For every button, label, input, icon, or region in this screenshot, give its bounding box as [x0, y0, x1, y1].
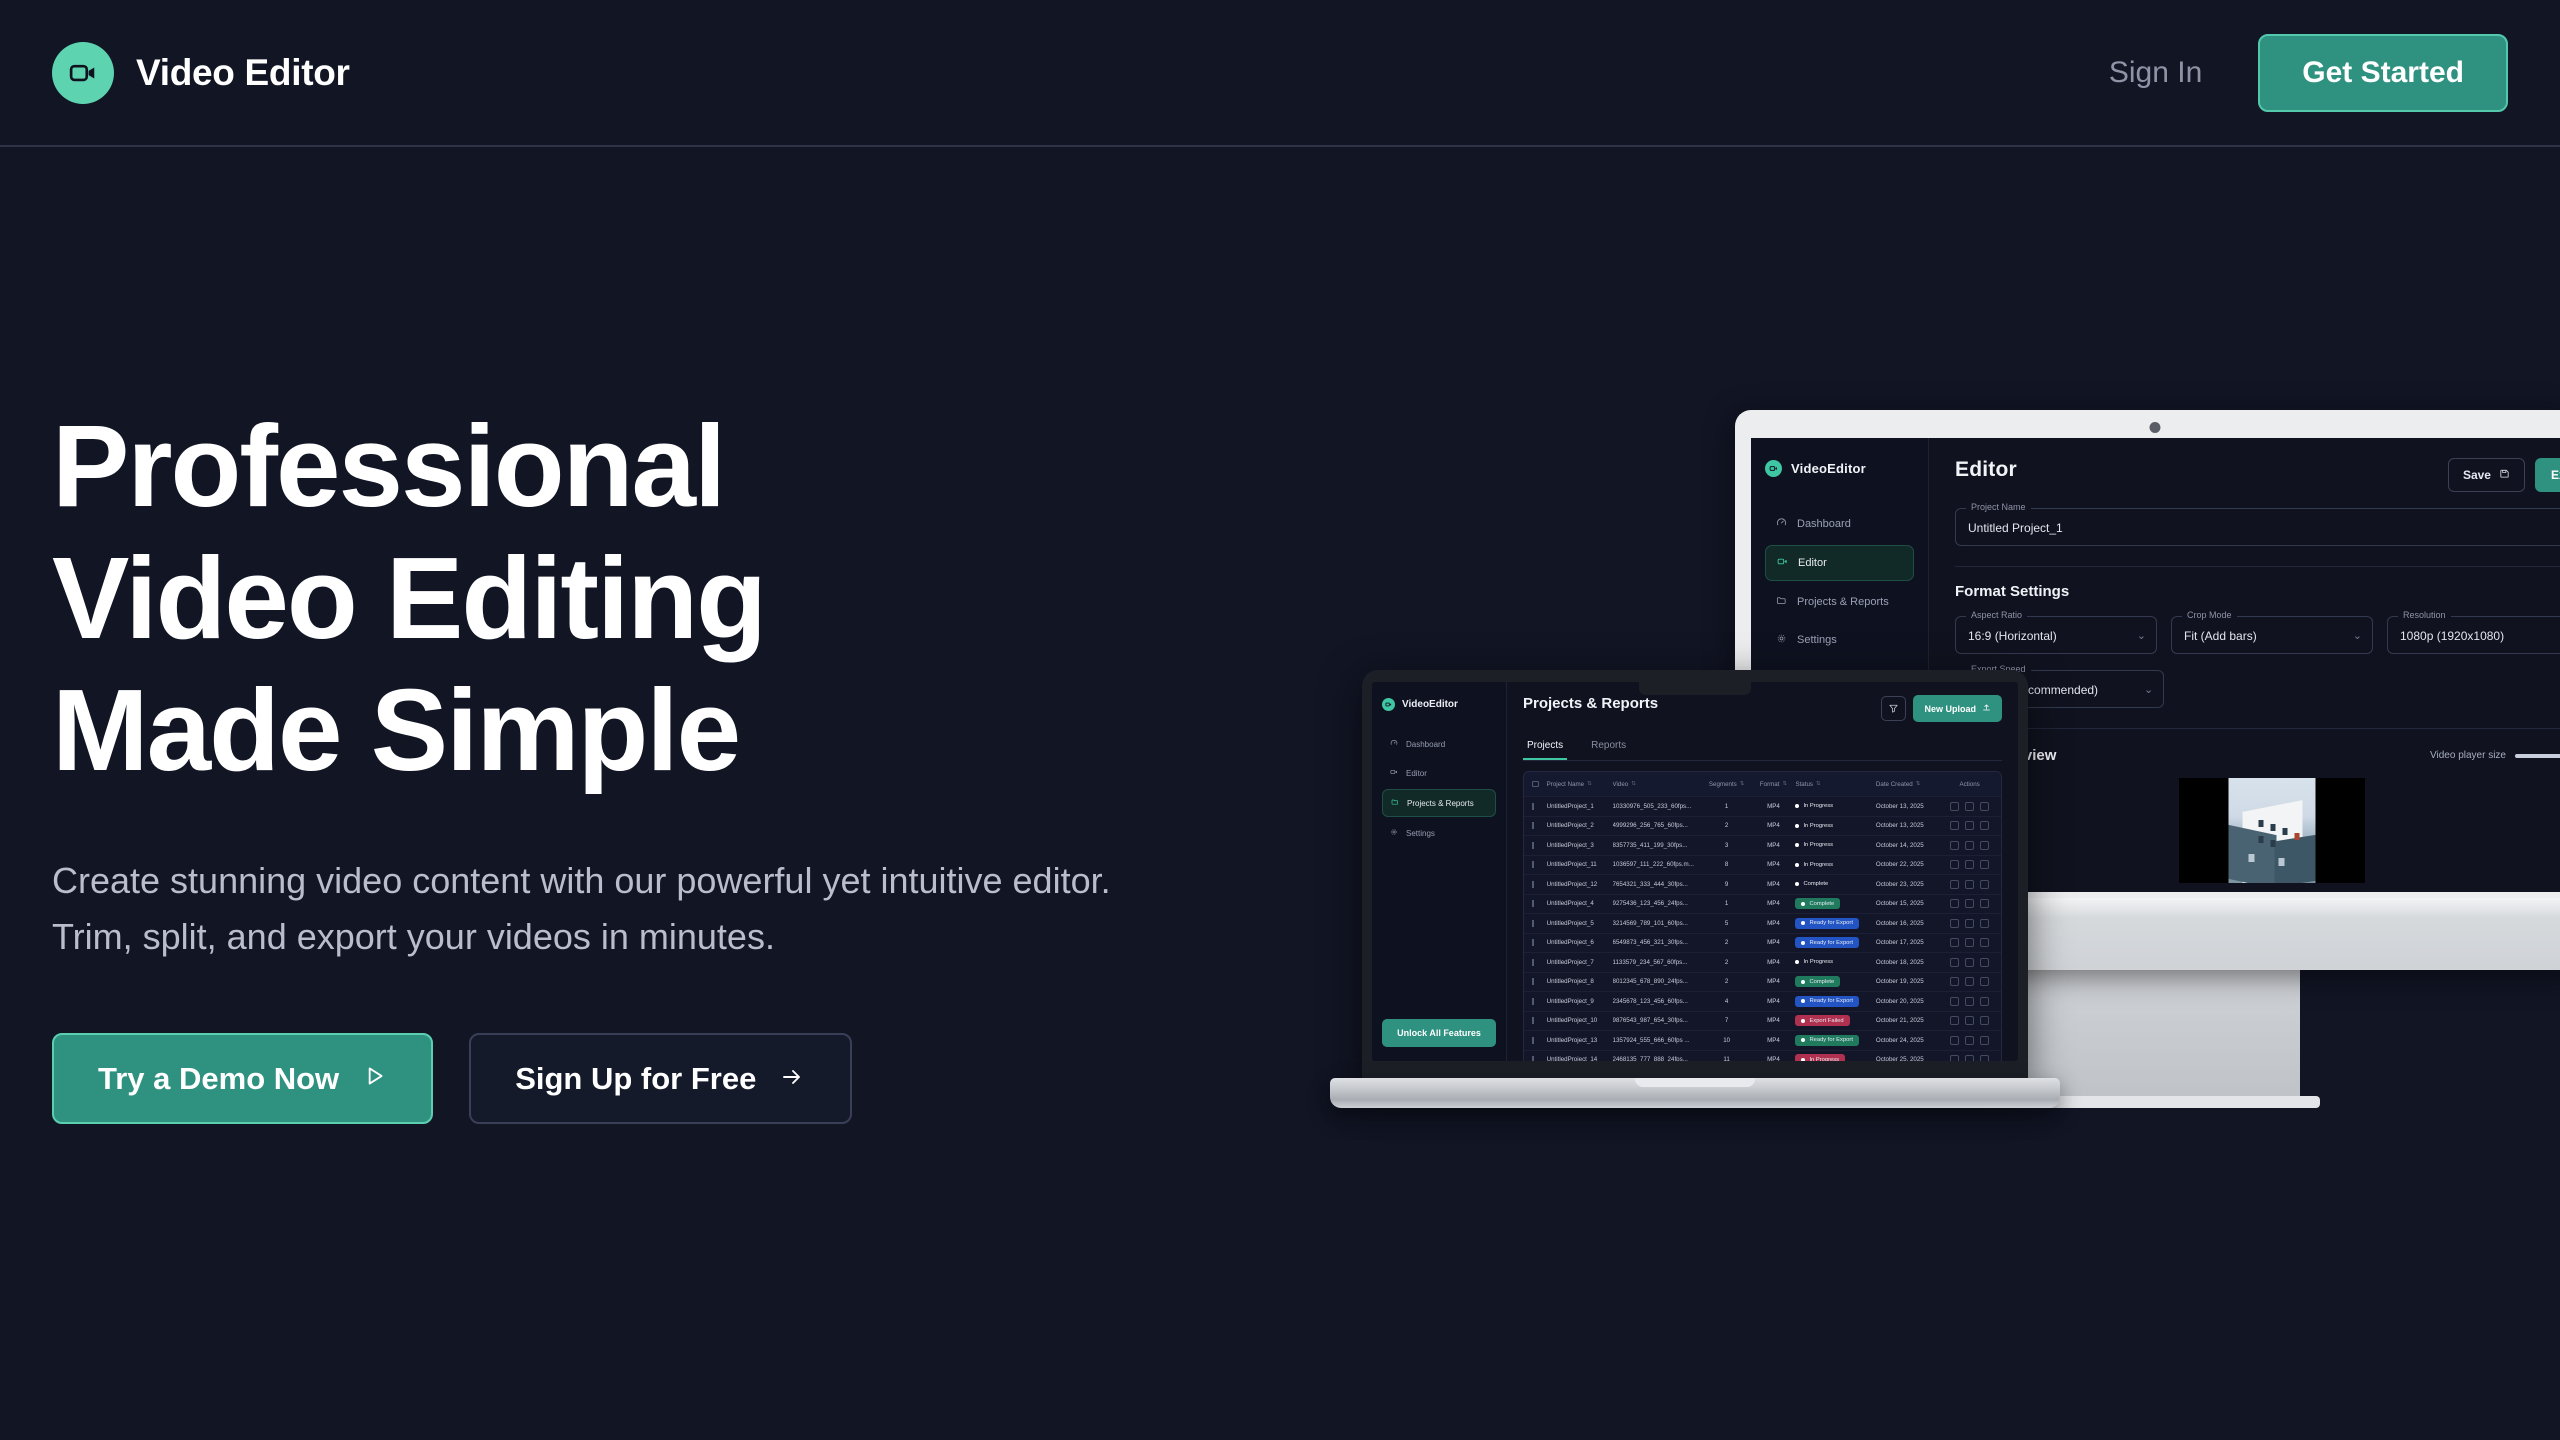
status-badge: In Progress	[1795, 859, 1839, 870]
cell-segments: 4	[1702, 998, 1752, 1005]
col-segments[interactable]: Segments⇅	[1702, 781, 1752, 788]
cell-status: In Progress	[1795, 1054, 1875, 1061]
edit-icon[interactable]	[1950, 938, 1959, 947]
delete-icon[interactable]	[1980, 821, 1989, 830]
row-checkbox[interactable]	[1532, 920, 1547, 927]
video-player-preview[interactable]	[2179, 778, 2365, 883]
cell-segments: 2	[1702, 822, 1752, 829]
hero-heading-line-2: Video Editing	[52, 533, 765, 663]
cell-segments: 1	[1702, 803, 1752, 810]
try-demo-button[interactable]: Try a Demo Now	[52, 1033, 433, 1124]
status-badge: In Progress	[1795, 801, 1839, 812]
editor-page-title: Editor	[1955, 458, 2017, 482]
table-row[interactable]: UntitledProject_142468135_777_888_24fps.…	[1524, 1051, 2001, 1062]
projects-page-title: Projects & Reports	[1523, 695, 1658, 712]
delete-icon[interactable]	[1980, 802, 1989, 811]
col-status[interactable]: Status⇅	[1795, 781, 1875, 788]
cell-segments: 9	[1702, 881, 1752, 888]
status-dot	[1795, 863, 1799, 867]
sidebar-item-label: Editor	[1406, 769, 1427, 778]
cell-project-name: UntitledProject_6	[1547, 939, 1613, 946]
cell-project-name: UntitledProject_4	[1547, 900, 1613, 907]
sort-icon: ⇅	[1916, 781, 1921, 787]
cell-status: In Progress	[1795, 957, 1875, 968]
upload-icon	[1982, 703, 1991, 714]
row-checkbox[interactable]	[1532, 861, 1547, 868]
funnel-icon[interactable]	[1881, 696, 1906, 721]
monitor-brand-label: VideoEditor	[1791, 461, 1866, 476]
project-name-field[interactable]: Project Name Untitled Project_1	[1955, 508, 2560, 546]
aspect-ratio-select[interactable]: Aspect Ratio 16:9 (Horizontal) ⌄	[1955, 616, 2157, 654]
cell-date-created: October 17, 2025	[1876, 939, 1946, 946]
edit-icon[interactable]	[1950, 841, 1959, 850]
cell-status: Complete	[1795, 976, 1875, 987]
video-frame-image	[2229, 778, 2316, 883]
window-shape	[2249, 854, 2255, 862]
laptop-sidebar: VideoEditor Dashboard Editor Projec	[1372, 682, 1507, 1061]
cell-project-name: UntitledProject_13	[1547, 1037, 1613, 1044]
download-icon[interactable]	[1965, 1036, 1974, 1045]
tab-reports[interactable]: Reports	[1587, 734, 1630, 760]
status-badge: Ready for Export	[1795, 996, 1859, 1007]
cell-date-created: October 18, 2025	[1876, 959, 1946, 966]
delete-icon[interactable]	[1980, 977, 1989, 986]
chevron-down-icon: ⌄	[2137, 629, 2146, 642]
tab-projects[interactable]: Projects	[1523, 734, 1567, 760]
table-row[interactable]: UntitledProject_24999296_256_765_60fps..…	[1524, 817, 2001, 837]
col-video[interactable]: Video⇅	[1613, 781, 1702, 788]
cell-format: MP4	[1752, 998, 1796, 1005]
cell-date-created: October 15, 2025	[1876, 900, 1946, 907]
cell-format: MP4	[1752, 1017, 1796, 1024]
cell-date-created: October 13, 2025	[1876, 822, 1946, 829]
header-actions: Sign In Get Started	[2109, 34, 2508, 112]
status-dot	[1801, 999, 1805, 1003]
cell-date-created: October 20, 2025	[1876, 998, 1946, 1005]
download-icon[interactable]	[1965, 841, 1974, 850]
new-upload-button[interactable]: New Upload	[1913, 695, 2002, 722]
cell-status: Complete	[1795, 898, 1875, 909]
edit-icon[interactable]	[1950, 1016, 1959, 1025]
play-triangle-icon	[361, 1063, 387, 1094]
row-checkbox[interactable]	[1532, 998, 1547, 1005]
sidebar-item-dashboard[interactable]: Dashboard	[1382, 731, 1496, 757]
table-row[interactable]: UntitledProject_92345678_123_456_60fps..…	[1524, 992, 2001, 1012]
delete-icon[interactable]	[1980, 899, 1989, 908]
sidebar-item-settings[interactable]: Settings	[1382, 820, 1496, 846]
crop-mode-select[interactable]: Crop Mode Fit (Add bars) ⌄	[2171, 616, 2373, 654]
row-checkbox[interactable]	[1532, 900, 1547, 907]
row-checkbox[interactable]	[1532, 1017, 1547, 1024]
cell-format: MP4	[1752, 1056, 1796, 1061]
cell-segments: 11	[1702, 1056, 1752, 1061]
product-mockup-stage: VideoEditor Dashboard Editor Projects & …	[1330, 380, 2560, 1300]
cell-video: 8357735_411_199_30fps...	[1613, 842, 1702, 849]
table-row[interactable]: UntitledProject_49275436_123_456_24fps..…	[1524, 895, 2001, 915]
sign-in-link[interactable]: Sign In	[2109, 56, 2202, 90]
cell-video: 9876543_987_654_30fps...	[1613, 1017, 1702, 1024]
laptop-header-actions: New Upload	[1881, 695, 2002, 722]
format-settings-title: Format Settings	[1955, 583, 2560, 600]
window-shape	[2271, 840, 2276, 847]
cell-date-created: October 14, 2025	[1876, 842, 1946, 849]
select-all-checkbox[interactable]	[1532, 781, 1547, 788]
chevron-down-icon: ⌄	[2144, 683, 2153, 696]
cell-date-created: October 21, 2025	[1876, 1017, 1946, 1024]
table-row[interactable]: UntitledProject_66549873_456_321_30fps..…	[1524, 934, 2001, 954]
status-dot	[1801, 902, 1805, 906]
delete-icon[interactable]	[1980, 841, 1989, 850]
cell-video: 9275436_123_456_24fps...	[1613, 900, 1702, 907]
cell-video: 1133579_234_567_60fps...	[1613, 959, 1702, 966]
projects-reports-tabs: Projects Reports	[1523, 734, 2002, 761]
sidebar-item-editor[interactable]: Editor	[1382, 760, 1496, 786]
cell-project-name: UntitledProject_5	[1547, 920, 1613, 927]
status-badge: Complete	[1795, 879, 1834, 890]
cell-actions[interactable]	[1946, 997, 1993, 1006]
window-shape	[2279, 858, 2285, 866]
delete-icon[interactable]	[1980, 997, 1989, 1006]
cell-format: MP4	[1752, 842, 1796, 849]
speedometer-icon	[1776, 517, 1787, 531]
window-shape	[2259, 820, 2264, 827]
video-camera-icon	[1382, 698, 1395, 711]
sidebar-item-projects-reports[interactable]: Projects & Reports	[1765, 585, 1914, 619]
sidebar-item-label: Projects & Reports	[1407, 799, 1474, 808]
status-badge: Ready for Export	[1795, 1035, 1859, 1046]
save-label: Save	[2463, 468, 2491, 482]
sidebar-item-dashboard[interactable]: Dashboard	[1765, 507, 1914, 541]
cell-status: Ready for Export	[1795, 996, 1875, 1007]
delete-icon[interactable]	[1980, 938, 1989, 947]
cell-project-name: UntitledProject_3	[1547, 842, 1613, 849]
cell-segments: 5	[1702, 920, 1752, 927]
cell-actions[interactable]	[1946, 802, 1993, 811]
video-camera-icon	[1777, 556, 1788, 570]
editor-top-actions: Save Exp	[2448, 458, 2560, 492]
new-upload-label: New Upload	[1924, 704, 1976, 714]
table-row[interactable]: UntitledProject_38357735_411_199_30fps..…	[1524, 836, 2001, 856]
sidebar-item-projects-reports[interactable]: Projects & Reports	[1382, 789, 1496, 817]
cell-video: 8012345_678_890_24fps...	[1613, 978, 1702, 985]
row-checkbox[interactable]	[1532, 939, 1547, 946]
cell-format: MP4	[1752, 803, 1796, 810]
edit-icon[interactable]	[1950, 880, 1959, 889]
cell-status: Ready for Export	[1795, 1035, 1875, 1046]
edit-icon[interactable]	[1950, 860, 1959, 869]
col-date-created[interactable]: Date Created⇅	[1876, 781, 1946, 788]
speedometer-icon	[1390, 739, 1398, 749]
download-icon[interactable]	[1965, 919, 1974, 928]
laptop-base	[1330, 1078, 2060, 1108]
status-badge: Ready for Export	[1795, 937, 1859, 948]
player-size-slider[interactable]	[2515, 754, 2560, 758]
cell-status: Ready for Export	[1795, 918, 1875, 929]
delete-icon[interactable]	[1980, 919, 1989, 928]
cell-date-created: October 24, 2025	[1876, 1037, 1946, 1044]
col-format[interactable]: Format⇅	[1752, 781, 1796, 788]
table-row[interactable]: UntitledProject_111036597_111_222_60fps.…	[1524, 856, 2001, 876]
table-body: UntitledProject_110330976_505_233_60fps.…	[1524, 797, 2001, 1061]
laptop-notch	[1639, 682, 1751, 695]
save-button[interactable]: Save	[2448, 458, 2525, 492]
player-size-label: Video player size	[2430, 750, 2506, 761]
project-name-value: Untitled Project_1	[1968, 521, 2560, 535]
cell-format: MP4	[1752, 978, 1796, 985]
table-row[interactable]: UntitledProject_88012345_678_890_24fps..…	[1524, 973, 2001, 993]
row-checkbox[interactable]	[1532, 1056, 1547, 1061]
edit-icon[interactable]	[1950, 802, 1959, 811]
cell-actions[interactable]	[1946, 821, 1993, 830]
edit-icon[interactable]	[1950, 1036, 1959, 1045]
cell-project-name: UntitledProject_12	[1547, 881, 1613, 888]
download-icon[interactable]	[1965, 977, 1974, 986]
page-title: Professional Video Editing Made Simple	[52, 400, 1152, 797]
sidebar-item-editor[interactable]: Editor	[1765, 545, 1914, 581]
cell-project-name: UntitledProject_2	[1547, 822, 1613, 829]
edit-icon[interactable]	[1950, 899, 1959, 908]
aspect-ratio-label: Aspect Ratio	[1966, 610, 2027, 620]
delete-icon[interactable]	[1980, 1055, 1989, 1061]
download-icon[interactable]	[1965, 1055, 1974, 1061]
cell-segments: 8	[1702, 861, 1752, 868]
cell-video: 3214569_789_101_60fps...	[1613, 920, 1702, 927]
cell-actions[interactable]	[1946, 860, 1993, 869]
cell-date-created: October 22, 2025	[1876, 861, 1946, 868]
row-checkbox[interactable]	[1532, 959, 1547, 966]
delete-icon[interactable]	[1980, 860, 1989, 869]
resolution-value: 1080p (1920x1080)	[2400, 629, 2560, 643]
table-row[interactable]: UntitledProject_131357924_555_666_60fps …	[1524, 1031, 2001, 1051]
cell-project-name: UntitledProject_10	[1547, 1017, 1613, 1024]
cell-date-created: October 16, 2025	[1876, 920, 1946, 927]
delete-icon[interactable]	[1980, 880, 1989, 889]
hero-section: Professional Video Editing Made Simple C…	[52, 400, 1152, 1124]
cell-project-name: UntitledProject_8	[1547, 978, 1613, 985]
cell-status: In Progress	[1795, 820, 1875, 831]
hero-subtitle: Create stunning video content with our p…	[52, 853, 1112, 965]
laptop-screen: VideoEditor Dashboard Editor Projec	[1372, 682, 2018, 1061]
get-started-button[interactable]: Get Started	[2258, 34, 2508, 112]
cell-actions[interactable]	[1946, 938, 1993, 947]
sign-up-free-button[interactable]: Sign Up for Free	[469, 1033, 852, 1124]
status-dot	[1795, 960, 1799, 964]
status-badge: In Progress	[1795, 840, 1839, 851]
cell-actions[interactable]	[1946, 977, 1993, 986]
sidebar-item-settings[interactable]: Settings	[1765, 623, 1914, 657]
cell-actions[interactable]	[1946, 841, 1993, 850]
cell-project-name: UntitledProject_14	[1547, 1056, 1613, 1061]
cell-status: Ready for Export	[1795, 937, 1875, 948]
monitor-topbar: Editor Save Exp	[1955, 458, 2560, 492]
edit-icon[interactable]	[1950, 821, 1959, 830]
cell-format: MP4	[1752, 920, 1796, 927]
status-badge: In Progress	[1795, 820, 1839, 831]
arrow-right-icon	[778, 1063, 806, 1094]
sidebar-item-label: Projects & Reports	[1797, 596, 1889, 608]
project-name-label: Project Name	[1966, 502, 2031, 512]
cell-actions[interactable]	[1946, 899, 1993, 908]
download-icon[interactable]	[1965, 938, 1974, 947]
laptop-main-panel: Projects & Reports New Upload	[1507, 682, 2018, 1061]
video-camera-icon	[52, 42, 114, 104]
cell-video: 7654321_333_444_30fps...	[1613, 881, 1702, 888]
table-row[interactable]: UntitledProject_53214569_789_101_60fps..…	[1524, 914, 2001, 934]
download-icon[interactable]	[1965, 802, 1974, 811]
edit-icon[interactable]	[1950, 997, 1959, 1006]
cell-actions[interactable]	[1946, 880, 1993, 889]
format-settings-row-1: Aspect Ratio 16:9 (Horizontal) ⌄ Crop Mo…	[1955, 600, 2560, 654]
gear-icon	[1390, 828, 1398, 838]
laptop-mockup: VideoEditor Dashboard Editor Projec	[1330, 670, 2060, 1130]
chevron-down-icon: ⌄	[2353, 629, 2362, 642]
status-badge: In Progress	[1795, 1054, 1845, 1061]
edit-icon[interactable]	[1950, 958, 1959, 967]
cell-format: MP4	[1752, 822, 1796, 829]
cell-status: Export Failed	[1795, 1015, 1875, 1026]
laptop-brand: VideoEditor	[1382, 698, 1496, 711]
edit-icon[interactable]	[1950, 1055, 1959, 1061]
cell-video: 2345678_123_456_60fps...	[1613, 998, 1702, 1005]
status-badge: Complete	[1795, 898, 1840, 909]
delete-icon[interactable]	[1980, 1036, 1989, 1045]
cell-format: MP4	[1752, 1037, 1796, 1044]
sort-icon: ⇅	[1816, 781, 1821, 787]
projects-table: Project Name⇅ Video⇅ Segments⇅ Format⇅ S…	[1523, 771, 2002, 1061]
cell-format: MP4	[1752, 881, 1796, 888]
delete-icon[interactable]	[1980, 958, 1989, 967]
cell-segments: 2	[1702, 959, 1752, 966]
status-badge: Export Failed	[1795, 1015, 1849, 1026]
download-icon[interactable]	[1965, 860, 1974, 869]
cell-actions[interactable]	[1946, 958, 1993, 967]
window-shape	[2259, 836, 2264, 843]
cell-project-name: UntitledProject_1	[1547, 803, 1613, 810]
download-icon[interactable]	[1965, 958, 1974, 967]
status-dot	[1801, 1038, 1805, 1042]
status-badge: Complete	[1795, 976, 1840, 987]
laptop-base-notch	[1635, 1078, 1755, 1087]
resolution-label: Resolution	[2398, 610, 2451, 620]
cell-segments: 2	[1702, 978, 1752, 985]
sort-icon: ⇅	[1631, 781, 1636, 787]
aspect-ratio-value: 16:9 (Horizontal)	[1968, 629, 2144, 643]
window-shape	[2295, 833, 2300, 840]
col-project-name[interactable]: Project Name⇅	[1547, 781, 1613, 788]
cell-date-created: October 13, 2025	[1876, 803, 1946, 810]
cell-actions[interactable]	[1946, 1016, 1993, 1025]
resolution-select[interactable]: Resolution 1080p (1920x1080) ⌄	[2387, 616, 2560, 654]
table-row[interactable]: UntitledProject_109876543_987_654_30fps.…	[1524, 1012, 2001, 1032]
cell-actions[interactable]	[1946, 1055, 1993, 1061]
download-icon[interactable]	[1965, 997, 1974, 1006]
row-checkbox[interactable]	[1532, 1037, 1547, 1044]
edit-icon[interactable]	[1950, 919, 1959, 928]
edit-icon[interactable]	[1950, 977, 1959, 986]
sidebar-item-label: Settings	[1797, 634, 1837, 646]
sort-icon: ⇅	[1740, 781, 1745, 787]
cell-project-name: UntitledProject_11	[1547, 861, 1613, 868]
cell-video: 10330976_505_233_60fps...	[1613, 803, 1702, 810]
download-icon[interactable]	[1965, 899, 1974, 908]
cell-format: MP4	[1752, 900, 1796, 907]
crop-mode-value: Fit (Add bars)	[2184, 629, 2360, 643]
cell-segments: 2	[1702, 939, 1752, 946]
gear-icon	[1776, 633, 1787, 647]
video-player-size-control[interactable]: Video player size	[2430, 750, 2560, 761]
export-button[interactable]: Exp	[2535, 458, 2560, 492]
site-header: Video Editor Sign In Get Started	[0, 0, 2560, 147]
download-icon[interactable]	[1965, 821, 1974, 830]
cell-status: In Progress	[1795, 801, 1875, 812]
status-dot	[1795, 843, 1799, 847]
status-dot	[1795, 882, 1799, 886]
unlock-all-features-button[interactable]: Unlock All Features	[1382, 1019, 1496, 1047]
hero-heading-line-1: Professional	[52, 401, 724, 531]
row-checkbox[interactable]	[1532, 822, 1547, 829]
cell-segments: 3	[1702, 842, 1752, 849]
cell-date-created: October 19, 2025	[1876, 978, 1946, 985]
webcam-icon	[2150, 422, 2161, 433]
sign-up-free-label: Sign Up for Free	[515, 1063, 756, 1094]
table-row[interactable]: UntitledProject_71133579_234_567_60fps..…	[1524, 953, 2001, 973]
cell-format: MP4	[1752, 861, 1796, 868]
hero-cta-group: Try a Demo Now Sign Up for Free	[52, 1033, 1152, 1124]
status-dot	[1795, 824, 1799, 828]
row-checkbox[interactable]	[1532, 803, 1547, 810]
hero-heading-line-3: Made Simple	[52, 665, 739, 795]
sidebar-item-label: Dashboard	[1797, 518, 1851, 530]
cell-segments: 1	[1702, 900, 1752, 907]
try-demo-label: Try a Demo Now	[98, 1063, 339, 1094]
monitor-brand: VideoEditor	[1765, 460, 1914, 477]
sort-icon: ⇅	[1782, 781, 1787, 787]
row-checkbox[interactable]	[1532, 842, 1547, 849]
row-checkbox[interactable]	[1532, 978, 1547, 985]
table-row[interactable]: UntitledProject_110330976_505_233_60fps.…	[1524, 797, 2001, 817]
cell-project-name: UntitledProject_7	[1547, 959, 1613, 966]
cell-status: In Progress	[1795, 859, 1875, 870]
crop-mode-label: Crop Mode	[2182, 610, 2237, 620]
cell-actions[interactable]	[1946, 1036, 1993, 1045]
window-shape	[2283, 828, 2288, 835]
cell-video: 1357924_555_666_60fps ...	[1613, 1037, 1702, 1044]
download-icon[interactable]	[1965, 880, 1974, 889]
cell-segments: 10	[1702, 1037, 1752, 1044]
sidebar-item-label: Dashboard	[1406, 740, 1445, 749]
brand-logo-group[interactable]: Video Editor	[52, 42, 350, 104]
sidebar-item-label: Settings	[1406, 829, 1435, 838]
table-header-row: Project Name⇅ Video⇅ Segments⇅ Format⇅ S…	[1524, 772, 2001, 797]
status-badge: In Progress	[1795, 957, 1839, 968]
status-dot	[1795, 804, 1799, 808]
folder-icon	[1776, 595, 1787, 609]
cell-date-created: October 23, 2025	[1876, 881, 1946, 888]
sidebar-item-label: Editor	[1798, 557, 1827, 569]
table-row[interactable]: UntitledProject_127654321_333_444_30fps.…	[1524, 875, 2001, 895]
cell-project-name: UntitledProject_9	[1547, 998, 1613, 1005]
laptop-brand-label: VideoEditor	[1402, 699, 1458, 710]
cell-actions[interactable]	[1946, 919, 1993, 928]
row-checkbox[interactable]	[1532, 881, 1547, 888]
download-icon[interactable]	[1965, 1016, 1974, 1025]
status-dot	[1801, 1058, 1805, 1061]
status-dot	[1801, 980, 1805, 984]
delete-icon[interactable]	[1980, 1016, 1989, 1025]
cell-video: 2468135_777_888_24fps...	[1613, 1056, 1702, 1061]
cell-video: 6549873_456_321_30fps...	[1613, 939, 1702, 946]
video-camera-icon	[1390, 768, 1398, 778]
